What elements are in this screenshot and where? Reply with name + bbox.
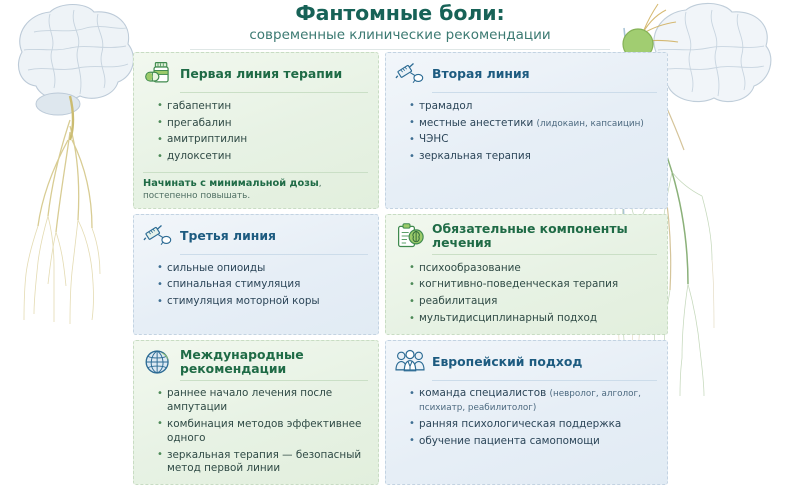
team-people-icon xyxy=(395,348,425,376)
bullet-list: психообразование когнитивно-поведенческа… xyxy=(395,260,657,328)
list-item: прегабалин xyxy=(167,115,368,132)
list-item-sub: (лидокаин, капсаицин) xyxy=(537,119,644,129)
cards-grid: Первая линия терапии габапентин прегабал… xyxy=(133,52,668,485)
list-item: раннее начало лечения после ампутации xyxy=(167,386,368,417)
card-title-divider xyxy=(180,380,368,381)
list-item: трамадол xyxy=(419,98,657,115)
card-title: Международные рекомендации xyxy=(180,348,368,375)
card-title: Европейский подход xyxy=(432,355,582,369)
card-title-divider xyxy=(432,380,657,381)
card-title: Третья линия xyxy=(180,229,276,243)
pill-bottle-icon xyxy=(143,60,173,88)
list-item: ранняя психологическая поддержка xyxy=(419,416,657,433)
card-third-line[interactable]: Третья линия сильные опиоиды спинальная … xyxy=(133,214,379,335)
list-item: местные анестетики (лидокаин, капсаицин) xyxy=(419,115,657,132)
card-header: Международные рекомендации xyxy=(143,348,368,380)
bullet-list: раннее начало лечения после ампутации ко… xyxy=(143,386,368,478)
page-subtitle: современные клинические рекомендации xyxy=(0,25,800,43)
bullet-list: трамадол местные анестетики (лидокаин, к… xyxy=(395,98,657,166)
syringe-icon xyxy=(395,60,425,88)
list-item: зеркальная терапия xyxy=(419,149,657,166)
list-item: сильные опиоиды xyxy=(167,260,368,277)
card-european-approach[interactable]: Европейский подход команда специалистов … xyxy=(385,340,668,485)
list-item: психообразование xyxy=(419,260,657,277)
list-item: дулоксетин xyxy=(167,149,368,166)
card-title: Обязательные компоненты лечения xyxy=(432,222,657,249)
header-divider xyxy=(190,49,610,50)
list-item: команда специалистов (невролог, алголог,… xyxy=(419,386,657,417)
card-header: Обязательные компоненты лечения xyxy=(395,222,657,254)
clipboard-brain-icon xyxy=(395,222,425,250)
card-second-line[interactable]: Вторая линия трамадол местные анестетики… xyxy=(385,52,668,209)
card-note: Начинать с минимальной дозы, постепенно … xyxy=(143,172,368,202)
card-mandatory-components[interactable]: Обязательные компоненты лечения психообр… xyxy=(385,214,668,335)
card-title-divider xyxy=(432,92,657,93)
list-item: реабилитация xyxy=(419,294,657,311)
card-header: Европейский подход xyxy=(395,348,657,380)
card-title-divider xyxy=(180,92,368,93)
syringe-icon xyxy=(143,222,173,250)
globe-icon xyxy=(143,348,173,376)
card-title: Первая линия терапии xyxy=(180,67,342,81)
list-item: амитриптилин xyxy=(167,132,368,149)
card-header: Вторая линия xyxy=(395,60,657,92)
page-title: Фантомные боли: xyxy=(0,0,800,25)
list-item: обучение пациента самопомощи xyxy=(419,433,657,450)
list-item: стимуляция моторной коры xyxy=(167,294,368,311)
list-item: габапентин xyxy=(167,98,368,115)
list-item: спинальная стимуляция xyxy=(167,277,368,294)
card-international-recommendations[interactable]: Международные рекомендации раннее начало… xyxy=(133,340,379,485)
list-item: мультидисциплинарный подход xyxy=(419,311,657,328)
card-title-divider xyxy=(180,254,368,255)
bullet-list: сильные опиоиды спинальная стимуляция ст… xyxy=(143,260,368,311)
list-item: когнитивно-поведенческая терапия xyxy=(419,277,657,294)
card-header: Третья линия xyxy=(143,222,368,254)
card-header: Первая линия терапии xyxy=(143,60,368,92)
card-title-divider xyxy=(432,254,657,255)
page-header: Фантомные боли: современные клинические … xyxy=(0,0,800,48)
list-item: ЧЭНС xyxy=(419,132,657,149)
list-item: зеркальная терапия — безопасный метод пе… xyxy=(167,447,368,478)
list-item: комбинация методов эффективнее одного xyxy=(167,416,368,447)
card-first-line[interactable]: Первая линия терапии габапентин прегабал… xyxy=(133,52,379,209)
bullet-list: команда специалистов (невролог, алголог,… xyxy=(395,386,657,451)
card-title: Вторая линия xyxy=(432,67,530,81)
bullet-list: габапентин прегабалин амитриптилин дулок… xyxy=(143,98,368,166)
note-strong: Начинать с минимальной дозы xyxy=(143,178,319,189)
